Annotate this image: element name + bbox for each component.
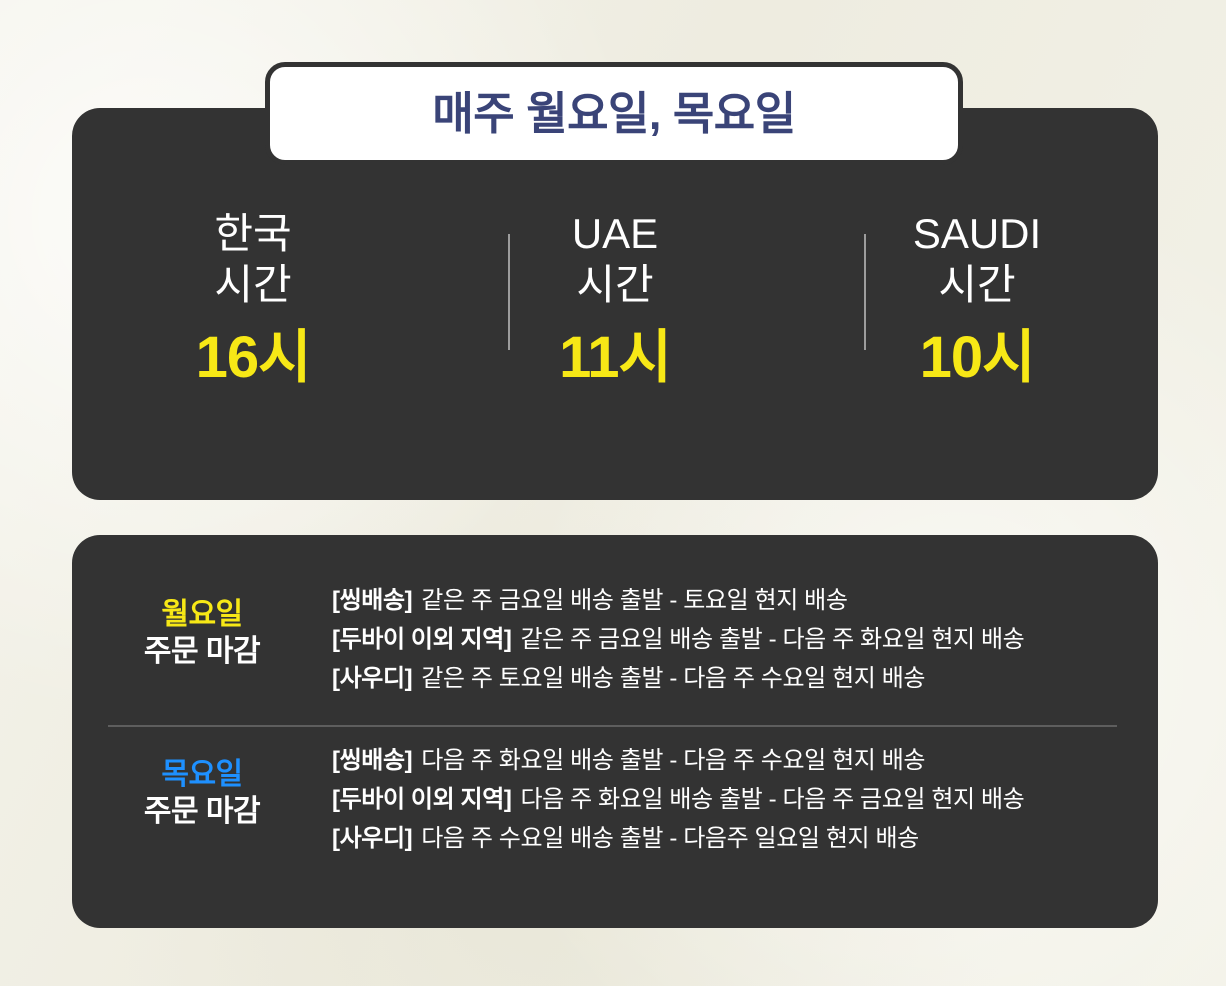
column-divider-2	[864, 234, 866, 350]
schedule-line-body: 같은 주 금요일 배송 출발 - 토요일 현지 배송	[421, 587, 847, 614]
schedule-line: [두바이 이외 지역]같은 주 금요일 배송 출발 - 다음 주 화요일 현지 …	[332, 621, 1138, 660]
schedule-label-monday: 월요일 주문 마감	[72, 582, 332, 670]
time-region-korea-line1: 한국	[214, 210, 291, 257]
poster-root: 한국 시간 16시 UAE 시간 11시 SAUDI 시간 10시	[0, 0, 1226, 986]
schedule-card: 월요일 주문 마감 [씽배송]같은 주 금요일 배송 출발 - 토요일 현지 배…	[72, 535, 1158, 928]
schedule-line: [두바이 이외 지역]다음 주 화요일 배송 출발 - 다음 주 금요일 현지 …	[332, 781, 1138, 820]
schedule-line: [씽배송]다음 주 화요일 배송 출발 - 다음 주 수요일 현지 배송	[332, 742, 1138, 781]
time-region-saudi: SAUDI 시간	[913, 208, 1041, 310]
schedule-line: [씽배송]같은 주 금요일 배송 출발 - 토요일 현지 배송	[332, 582, 1138, 621]
time-column-korea: 한국 시간 16시	[72, 208, 434, 390]
schedule-divider	[108, 725, 1117, 727]
time-value-saudi: 10시	[920, 326, 1035, 390]
schedule-day-monday: 월요일	[72, 597, 332, 634]
schedule-line-body: 같은 주 금요일 배송 출발 - 다음 주 화요일 현지 배송	[520, 626, 1024, 653]
schedule-group-thursday: 목요일 주문 마감 [씽배송]다음 주 화요일 배송 출발 - 다음 주 수요일…	[72, 742, 1158, 859]
schedule-sub-monday: 주문 마감	[72, 634, 332, 671]
time-region-uae: UAE 시간	[572, 208, 658, 310]
times-card: 한국 시간 16시 UAE 시간 11시 SAUDI 시간 10시	[72, 108, 1158, 500]
schedule-sub-thursday: 주문 마감	[72, 794, 332, 831]
schedule-lines-monday: [씽배송]같은 주 금요일 배송 출발 - 토요일 현지 배송 [두바이 이외 …	[332, 582, 1158, 699]
times-row: 한국 시간 16시 UAE 시간 11시 SAUDI 시간 10시	[72, 208, 1158, 448]
schedule-lines-thursday: [씽배송]다음 주 화요일 배송 출발 - 다음 주 수요일 현지 배송 [두바…	[332, 742, 1158, 859]
schedule-group-monday: 월요일 주문 마감 [씽배송]같은 주 금요일 배송 출발 - 토요일 현지 배…	[72, 582, 1158, 699]
schedule-line-tag: [두바이 이외 지역]	[332, 786, 511, 813]
schedule-line: [사우디]다음 주 수요일 배송 출발 - 다음주 일요일 현지 배송	[332, 820, 1138, 859]
time-region-uae-line2: 시간	[572, 259, 658, 310]
page-title: 매주 월요일, 목요일	[432, 91, 795, 136]
time-column-uae: UAE 시간 11시	[434, 208, 796, 390]
schedule-line-body: 다음 주 수요일 배송 출발 - 다음주 일요일 현지 배송	[421, 825, 919, 852]
time-column-saudi: SAUDI 시간 10시	[796, 208, 1158, 390]
schedule-day-thursday: 목요일	[72, 757, 332, 794]
schedule-line-body: 같은 주 토요일 배송 출발 - 다음 주 수요일 현지 배송	[421, 665, 925, 692]
time-value-uae: 11시	[559, 326, 671, 390]
schedule-line-tag: [사우디]	[332, 825, 412, 852]
schedule-line: [사우디]같은 주 토요일 배송 출발 - 다음 주 수요일 현지 배송	[332, 660, 1138, 699]
time-region-saudi-line2: 시간	[913, 259, 1041, 310]
schedule-line-body: 다음 주 화요일 배송 출발 - 다음 주 수요일 현지 배송	[421, 747, 925, 774]
schedule-line-tag: [사우디]	[332, 665, 412, 692]
title-card: 매주 월요일, 목요일	[265, 62, 963, 165]
time-region-korea: 한국 시간	[214, 208, 291, 310]
schedule-label-thursday: 목요일 주문 마감	[72, 742, 332, 830]
schedule-line-tag: [두바이 이외 지역]	[332, 626, 511, 653]
column-divider-1	[508, 234, 510, 350]
schedule-line-tag: [씽배송]	[332, 747, 412, 774]
time-region-saudi-line1: SAUDI	[913, 210, 1041, 257]
schedule-line-body: 다음 주 화요일 배송 출발 - 다음 주 금요일 현지 배송	[520, 786, 1024, 813]
schedule-line-tag: [씽배송]	[332, 587, 412, 614]
time-region-uae-line1: UAE	[572, 210, 658, 257]
time-value-korea: 16시	[196, 326, 311, 390]
time-region-korea-line2: 시간	[214, 259, 291, 310]
